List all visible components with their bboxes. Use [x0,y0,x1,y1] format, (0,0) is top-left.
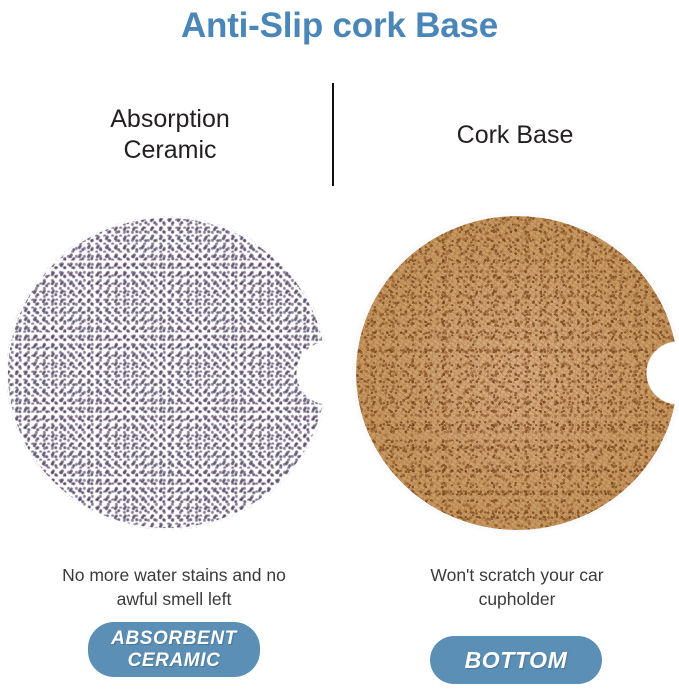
badge-label-line1: BOTTOM [465,647,568,673]
cork-base-coaster [356,216,678,530]
column-heading-line1: Cork Base [457,121,574,149]
caption-line2: awful smell left [117,589,232,609]
badge-absorbent-ceramic[interactable]: ABSORBENT CERAMIC [88,622,260,677]
column-heading-cork-base: Cork Base [365,120,665,151]
column-heading-line2: Ceramic [123,136,216,164]
caption-line1: No more water stains and no [62,565,286,585]
floral-ceramic-coaster-face [6,216,328,530]
caption-absorption-ceramic: No more water stains and no awful smell … [24,563,324,611]
page-title: Anti-Slip cork Base [0,4,679,48]
badge-label-line1: ABSORBENT [111,628,237,650]
caption-cork-base: Won't scratch your car cupholder [372,563,662,611]
cork-base-coaster-face [356,216,678,530]
floral-ceramic-coaster [6,216,328,530]
infographic-canvas: Anti-Slip cork Base Absorption Ceramic N… [0,0,679,694]
column-heading-line1: Absorption [110,105,230,133]
caption-line1: Won't scratch your car [430,565,603,585]
column-divider [332,83,334,186]
badge-bottom[interactable]: BOTTOM [430,636,602,684]
column-heading-absorption-ceramic: Absorption Ceramic [20,104,320,166]
caption-line2: cupholder [479,589,556,609]
badge-label-line2: CERAMIC [111,650,237,672]
